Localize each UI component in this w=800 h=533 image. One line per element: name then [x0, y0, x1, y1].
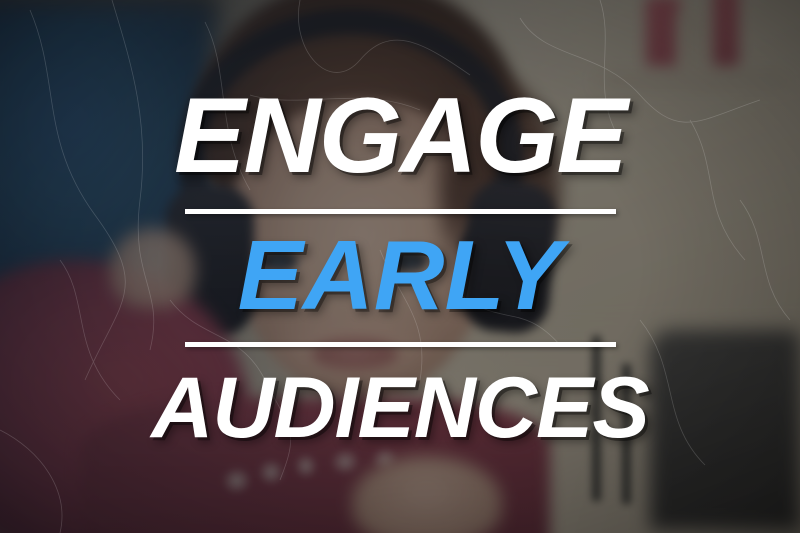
- headline-line-engage: ENGAGE: [174, 84, 626, 187]
- headline-block: ENGAGE EARLY AUDIENCES: [0, 0, 800, 533]
- divider-rule-top: [185, 209, 616, 214]
- promo-banner: ENGAGE EARLY AUDIENCES: [0, 0, 800, 533]
- headline-line-early: EARLY: [238, 228, 563, 322]
- headline-line-audiences: AUDIENCES: [151, 367, 649, 450]
- divider-rule-bottom: [185, 342, 616, 347]
